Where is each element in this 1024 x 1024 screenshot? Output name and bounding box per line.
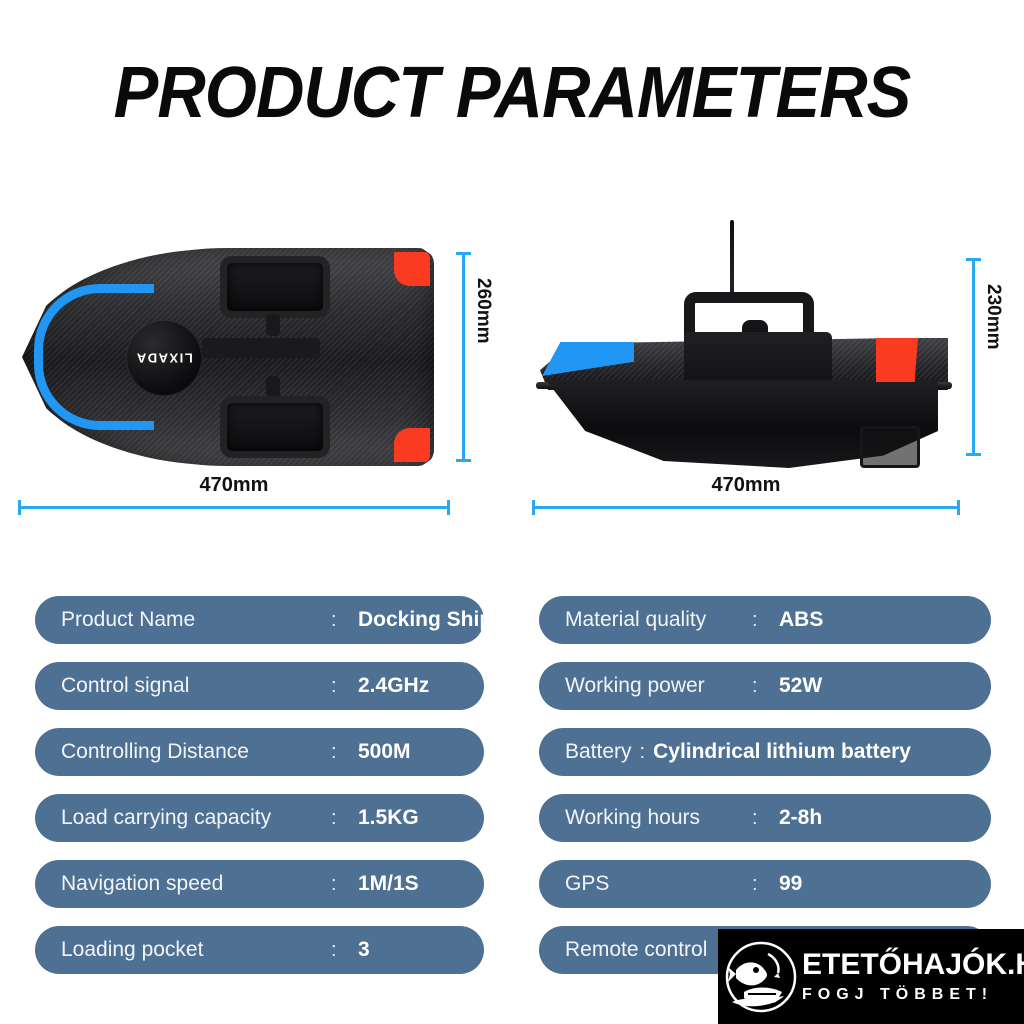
site-watermark: ETETŐHAJÓK.HU FOGJ TÖBBET!	[718, 929, 1024, 1024]
stern-red-accent-bottom	[394, 428, 430, 462]
boat-side-illustration	[534, 220, 954, 470]
spec-label: Controlling Distance	[61, 740, 249, 764]
dimension-bar	[532, 506, 960, 509]
dimension-cap-left	[18, 500, 21, 515]
spec-value: 52W	[779, 674, 822, 698]
side-view-height-dimension-line	[966, 258, 980, 456]
watermark-text: ETETŐHAJÓK.HU FOGJ TÖBBET!	[802, 950, 1024, 1003]
page-title: PRODUCT PARAMETERS	[36, 52, 988, 134]
spec-row-working-power: Working power : 52W	[539, 662, 991, 710]
spec-row-load-carrying-capacity: Load carrying capacity : 1.5KG	[35, 794, 484, 842]
spec-row-loading-pocket: Loading pocket : 3	[35, 926, 484, 974]
side-view-height-label: 230mm	[982, 284, 1004, 350]
spec-separator: :	[331, 939, 337, 962]
dimension-cap-right	[447, 500, 450, 515]
spec-separator: :	[331, 741, 337, 764]
spec-label: Battery	[565, 740, 632, 764]
dimension-bar	[462, 252, 465, 462]
spec-row-controlling-distance: Controlling Distance : 500M	[35, 728, 484, 776]
spec-value: 1M/1S	[358, 872, 419, 896]
spec-separator: :	[640, 741, 646, 764]
bait-hopper-hatch-front	[220, 256, 330, 318]
spec-value: 2.4GHz	[358, 674, 429, 698]
antenna	[730, 220, 734, 302]
spec-row-battery: Battery : Cylindrical lithium battery	[539, 728, 991, 776]
watermark-subtitle: FOGJ TÖBBET!	[802, 987, 1024, 1003]
spec-row-gps: GPS : 99	[539, 860, 991, 908]
spec-separator: :	[331, 675, 337, 698]
spec-separator: :	[752, 873, 758, 896]
spec-label: Remote control	[565, 938, 707, 962]
spec-separator: :	[752, 609, 758, 632]
spec-label: Product Name	[61, 608, 195, 632]
brand-logo-disc: LIXADA	[126, 320, 202, 396]
spec-separator: :	[331, 873, 337, 896]
spec-row-product-name: Product Name : Docking Ship	[35, 596, 484, 644]
spec-value: Cylindrical lithium battery	[653, 740, 911, 764]
product-diagrams: LIXADA 260mm	[0, 200, 1024, 540]
spec-label: Navigation speed	[61, 872, 223, 896]
spec-label: GPS	[565, 872, 609, 896]
spec-value: ABS	[779, 608, 823, 632]
dimension-bar	[972, 258, 975, 456]
hatch-clip-rear	[266, 376, 280, 398]
top-view-figure: LIXADA 260mm	[10, 200, 510, 530]
center-bar	[202, 338, 320, 358]
dimension-cap-bottom	[966, 453, 981, 456]
spec-label: Material quality	[565, 608, 706, 632]
spec-row-navigation-speed: Navigation speed : 1M/1S	[35, 860, 484, 908]
top-view-width-dimension-line	[18, 500, 450, 514]
dimension-cap-right	[957, 500, 960, 515]
spec-value: Docking Ship	[358, 608, 492, 632]
dimension-bar	[18, 506, 450, 509]
stern-red-accent-top	[394, 252, 430, 286]
specs-column-left: Product Name : Docking Ship Control sign…	[35, 596, 521, 992]
hatch-clip-front	[266, 314, 280, 336]
top-view-width-label: 470mm	[18, 474, 450, 497]
spec-separator: :	[752, 807, 758, 830]
spec-row-working-hours: Working hours : 2-8h	[539, 794, 991, 842]
spec-separator: :	[752, 675, 758, 698]
bait-hopper-hatch-rear	[220, 396, 330, 458]
spec-value: 2-8h	[779, 806, 822, 830]
fish-boat-logo-icon	[724, 940, 798, 1014]
boat-top-illustration: LIXADA	[22, 248, 434, 466]
spec-value: 99	[779, 872, 802, 896]
spec-value: 3	[358, 938, 370, 962]
rudder-assembly	[860, 426, 920, 468]
spec-label: Loading pocket	[61, 938, 203, 962]
spec-label: Working power	[565, 674, 705, 698]
side-view-width-label: 470mm	[532, 474, 960, 497]
watermark-title: ETETŐHAJÓK.HU	[802, 950, 1024, 980]
spec-separator: :	[331, 609, 337, 632]
spec-row-material-quality: Material quality : ABS	[539, 596, 991, 644]
product-parameters-page: PRODUCT PARAMETERS LIXADA	[0, 0, 1024, 1024]
top-view-height-dimension-line	[456, 252, 470, 462]
dimension-cap-top	[966, 258, 981, 261]
spec-label: Working hours	[565, 806, 700, 830]
side-view-figure: 230mm 470mm	[524, 200, 1024, 530]
dimension-cap-left	[532, 500, 535, 515]
side-view-width-dimension-line	[532, 500, 960, 514]
spec-value: 1.5KG	[358, 806, 419, 830]
spec-value: 500M	[358, 740, 411, 764]
brand-logo-text: LIXADA	[135, 351, 192, 366]
spec-label: Control signal	[61, 674, 189, 698]
spec-row-control-signal: Control signal : 2.4GHz	[35, 662, 484, 710]
spec-label: Load carrying capacity	[61, 806, 271, 830]
top-view-height-label: 260mm	[472, 278, 494, 344]
dimension-cap-top	[456, 252, 471, 255]
dimension-cap-bottom	[456, 459, 471, 462]
spec-separator: :	[331, 807, 337, 830]
stern-red-accent	[876, 338, 918, 382]
